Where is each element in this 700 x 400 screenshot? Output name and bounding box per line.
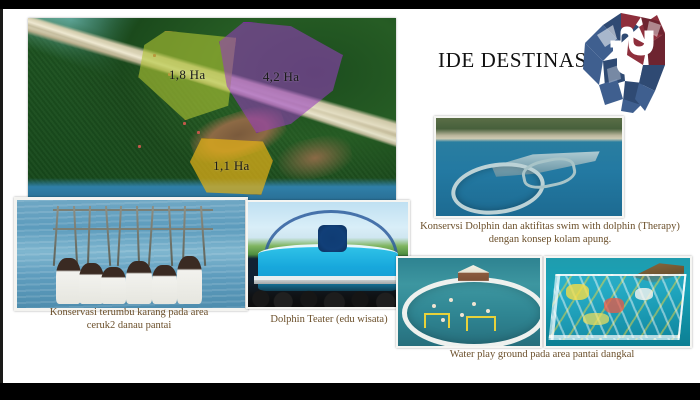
map-building	[183, 122, 186, 125]
circle-pool-swimmer	[472, 302, 476, 306]
caption-dolphin-theater: Dolphin Teater (edu wisata)	[250, 313, 408, 326]
caption-coral-conservation: Konservasi terumbu karang pada area ceru…	[20, 306, 238, 333]
caption-dolphin-conservation: Konservsi Dolphin dan aktifitas swim wit…	[414, 220, 686, 247]
letterbox-bottom	[0, 383, 700, 400]
aquapark-float	[583, 313, 609, 325]
map-building	[197, 131, 200, 134]
letterbox-top	[0, 0, 700, 9]
coral-volunteer	[101, 267, 126, 304]
circle-pool-swimmer	[441, 318, 445, 322]
aqua-park-photo[interactable]	[544, 256, 692, 348]
geometric-diamond-logo	[583, 13, 667, 113]
parcel-label: 4,2 Ha	[263, 69, 299, 85]
presentation-slide: 1,8 Ha 4,2 Ha 1,1 Ha IDE DESTINASI	[0, 0, 700, 400]
circle-pool-goal	[424, 313, 451, 328]
dolphin-theater-photo[interactable]	[246, 200, 410, 309]
coral-volunteer	[152, 265, 177, 304]
theater-screen	[318, 225, 347, 252]
aquapark-float	[566, 284, 589, 300]
parcel-label: 1,1 Ha	[213, 158, 249, 174]
aquapark-float	[635, 288, 652, 300]
circle-pool-swimmer	[432, 304, 436, 308]
circle-pool-goal	[466, 316, 496, 331]
floating-sea-pen-photo[interactable]	[434, 116, 624, 218]
caption-water-playground: Water play ground pada area pantai dangk…	[404, 348, 680, 361]
coral-volunteer	[79, 263, 104, 304]
parcel-label: 1,8 Ha	[169, 67, 205, 83]
coral-volunteer	[177, 256, 202, 304]
coral-volunteer	[126, 261, 151, 304]
logo-svg	[583, 13, 667, 113]
circular-floating-pool-photo[interactable]	[396, 256, 542, 348]
theater-audience	[248, 280, 408, 307]
aquapark-float	[604, 298, 624, 312]
coral-volunteer	[56, 258, 81, 303]
seapen-shoreline	[436, 118, 622, 142]
page-title: IDE DESTINASI	[438, 48, 595, 73]
coral-conservation-photo[interactable]	[14, 197, 248, 311]
slide-left-edge	[0, 9, 3, 383]
aerial-site-map[interactable]: 1,8 Ha 4,2 Ha 1,1 Ha	[28, 18, 396, 200]
